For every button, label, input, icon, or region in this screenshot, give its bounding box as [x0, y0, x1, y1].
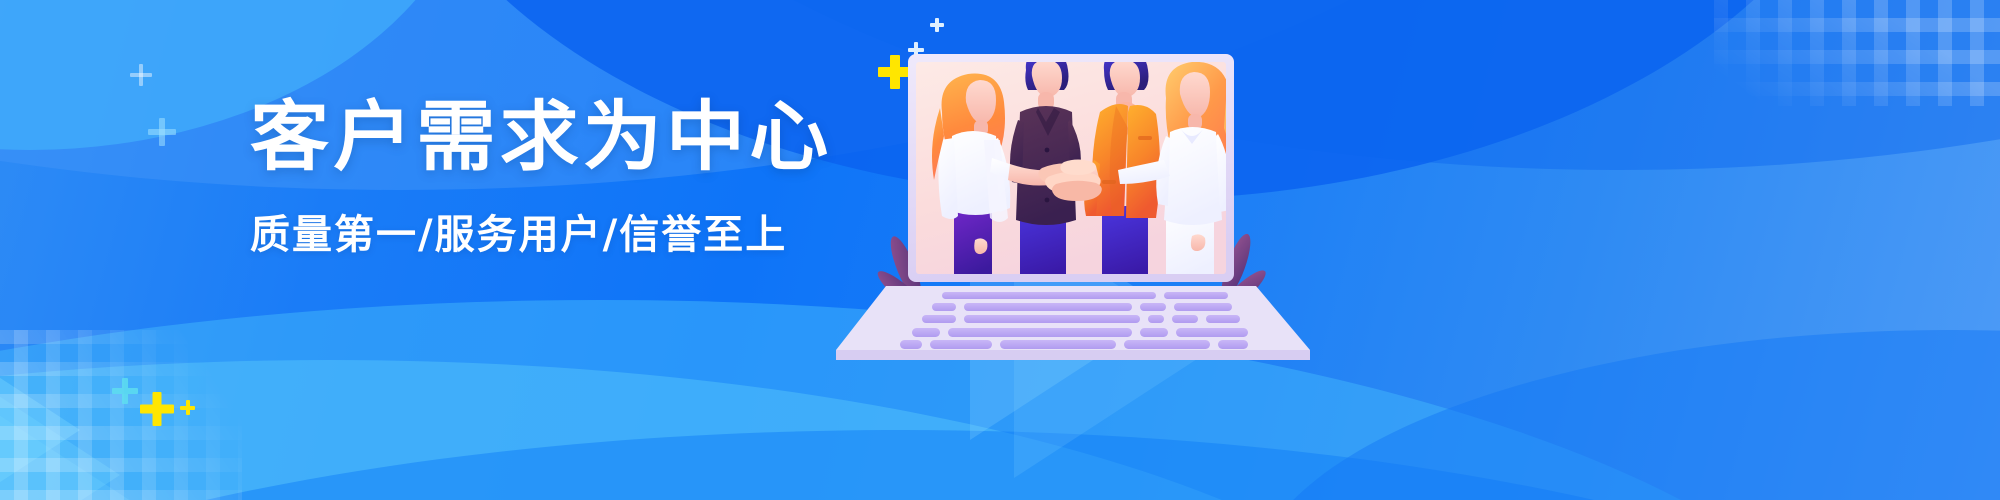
banner-copy: 客户需求为中心 质量第一/服务用户/信誉至上: [250, 98, 810, 260]
plus-white-small-icon: [130, 64, 152, 86]
promo-banner: 客户需求为中心 质量第一/服务用户/信誉至上: [0, 0, 2000, 500]
dot-grid-bottom-left: [0, 330, 242, 500]
page-title: 客户需求为中心: [250, 98, 832, 176]
chevron-shape: [0, 370, 160, 500]
chevron-shape: [0, 325, 120, 500]
plus-white-medium-icon: [148, 118, 176, 146]
laptop-base-edge: [836, 350, 1310, 360]
plus-yellow-large-icon: [140, 392, 174, 426]
laptop-team-illustration: [880, 40, 1310, 370]
chevron-shape: [0, 280, 80, 500]
plus-yellow-small-icon: [180, 400, 195, 415]
dot-grid-top-right: [1714, 0, 2000, 106]
plus-teal-medium-icon: [112, 378, 138, 404]
plus-white-tiny-icon: [930, 18, 944, 32]
background-wave-bottom-deep: [0, 430, 2000, 500]
background-wave-bottom-light-2: [0, 360, 1480, 500]
page-subtitle: 质量第一/服务用户/信誉至上: [250, 202, 810, 260]
background-wave-right-deep: [1250, 330, 2000, 500]
